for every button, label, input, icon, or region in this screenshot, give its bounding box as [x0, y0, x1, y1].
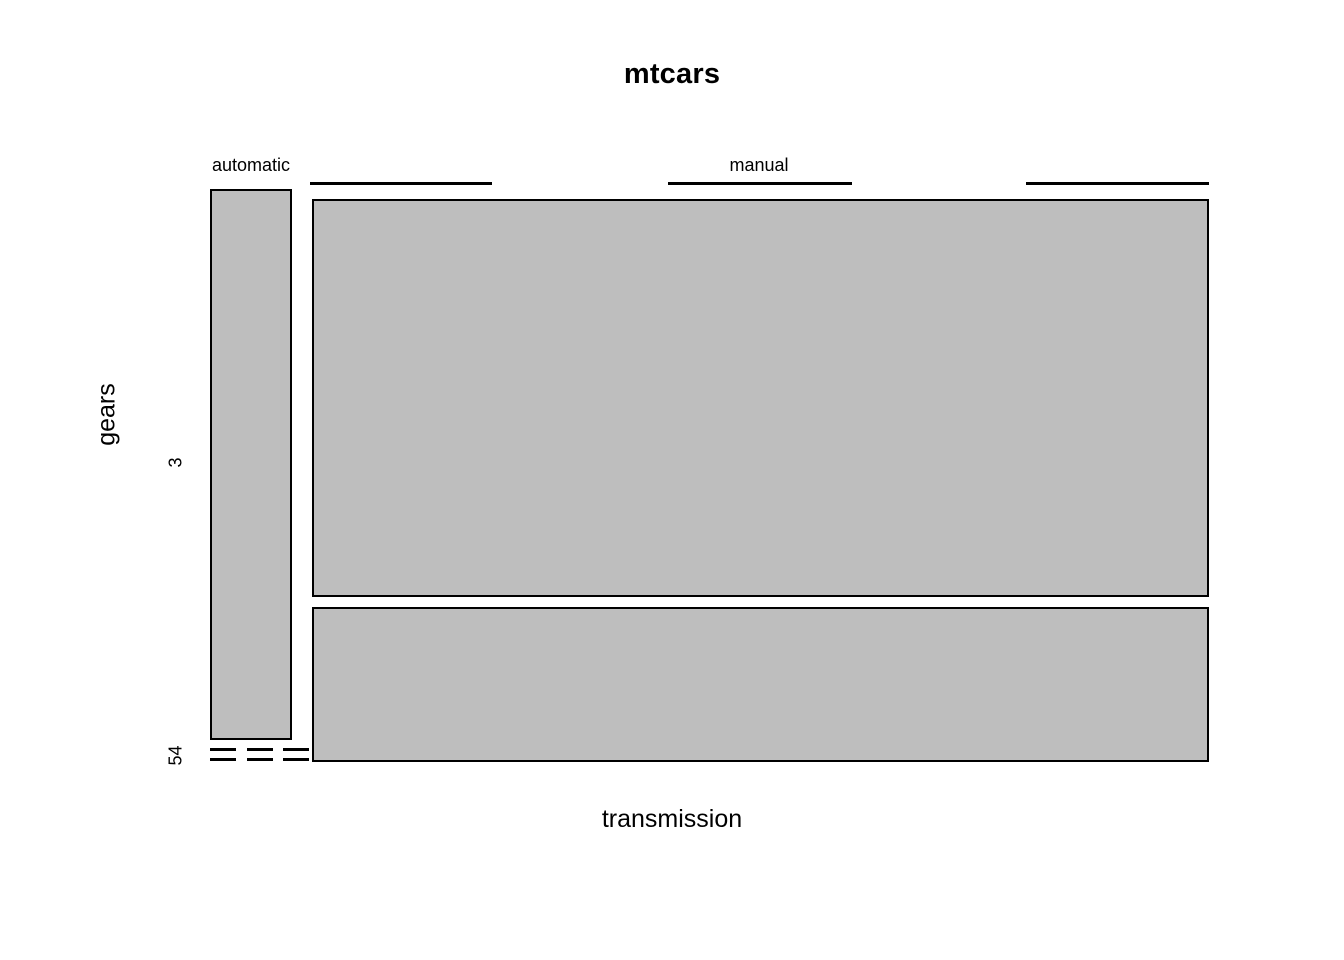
- bottom-axis-dash-2: [283, 748, 309, 751]
- x-category-label-automatic: automatic: [171, 155, 331, 176]
- bottom-axis-dash-5: [283, 758, 309, 761]
- x-category-label-manual: manual: [679, 155, 839, 176]
- top-axis-tick-2: [1026, 182, 1209, 185]
- bottom-axis-dash-0: [210, 748, 236, 751]
- mosaic-plot: mtcars gears transmission automatic manu…: [0, 0, 1344, 960]
- top-axis-tick-0: [310, 182, 492, 185]
- mosaic-tile-manual-3: [312, 199, 1209, 597]
- mosaic-tile-manual-4: [312, 607, 1209, 762]
- mosaic-tile-automatic-3: [210, 189, 292, 740]
- bottom-axis-dash-4: [247, 758, 273, 761]
- plot-title: mtcars: [0, 58, 1344, 91]
- bottom-axis-dash-1: [247, 748, 273, 751]
- y-axis-label: gears: [93, 305, 122, 525]
- y-category-label-3: 3: [166, 423, 187, 503]
- y-category-label-54: 54: [166, 716, 187, 796]
- top-axis-tick-1: [668, 182, 852, 185]
- x-axis-label: transmission: [0, 805, 1344, 834]
- bottom-axis-dash-3: [210, 758, 236, 761]
